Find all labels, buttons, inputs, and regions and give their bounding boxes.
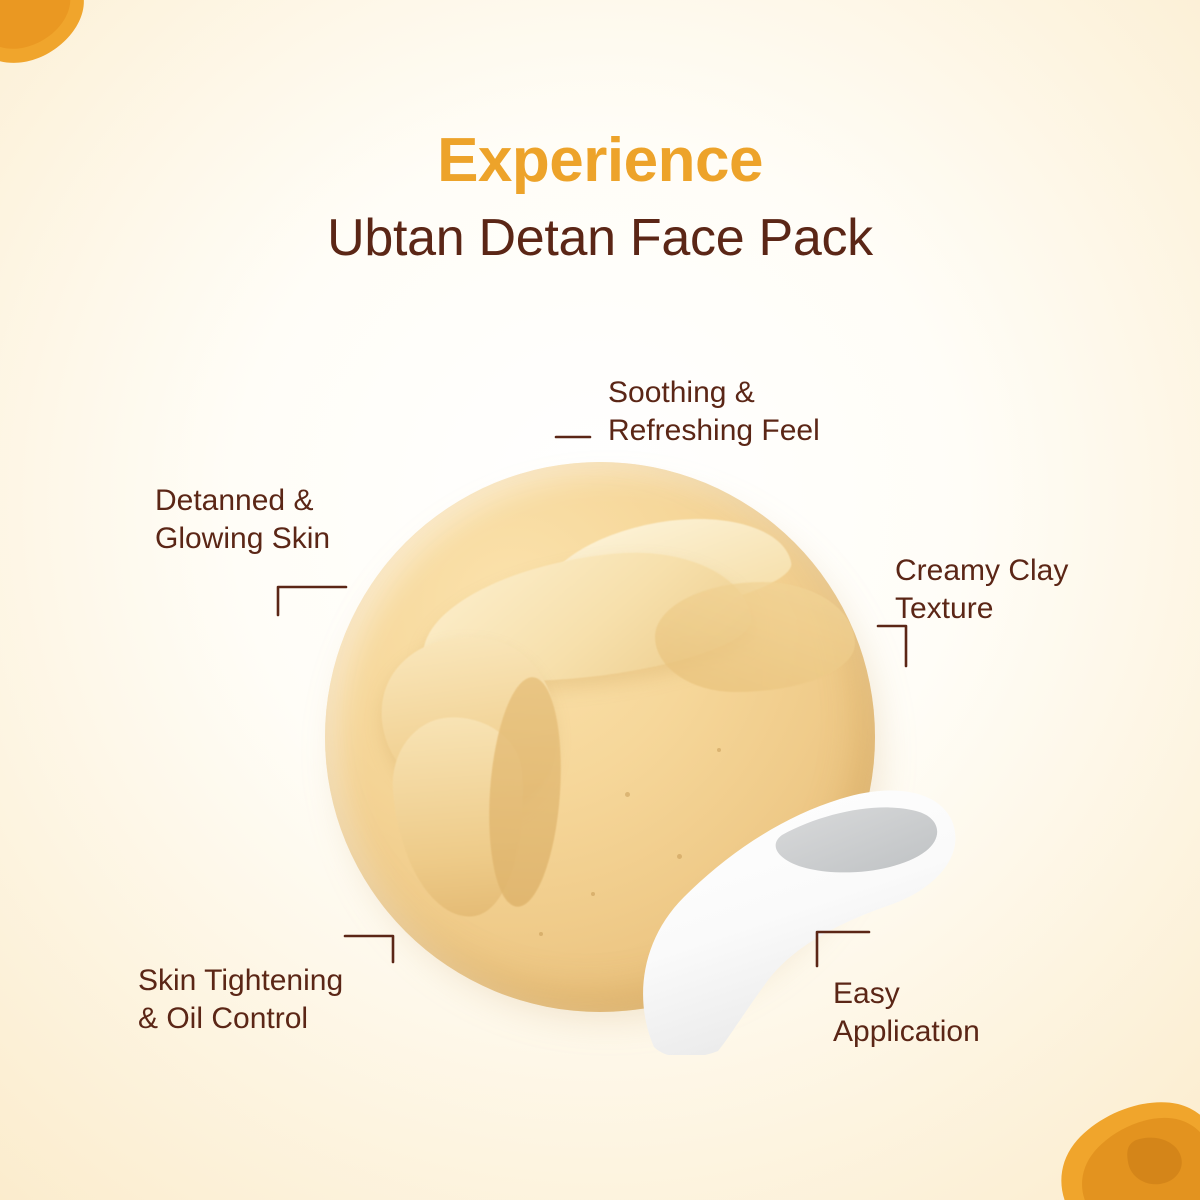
headings: Experience Ubtan Detan Face Pack (0, 128, 1200, 269)
promo-banner: Experience Ubtan Detan Face Pack (0, 0, 1200, 1200)
turmeric-piece-icon (1050, 1078, 1200, 1200)
turmeric-piece-icon (0, 0, 90, 68)
callout-creamy: Creamy Clay Texture (895, 552, 1068, 629)
callout-detanned: Detanned & Glowing Skin (155, 482, 330, 559)
cream-ridge (655, 582, 855, 692)
cream-circle (325, 462, 875, 1012)
callout-soothing: Soothing & Refreshing Feel (608, 374, 820, 451)
cream-speck (677, 854, 682, 859)
cream-speck (591, 892, 595, 896)
callout-tightening: Skin Tightening & Oil Control (138, 962, 343, 1039)
cream-speck (717, 748, 721, 752)
cream-speck (539, 932, 543, 936)
product-swatch (325, 462, 885, 1022)
cream-speck (625, 792, 630, 797)
callout-easy-application: Easy Application (833, 975, 980, 1052)
page-title-sub: Ubtan Detan Face Pack (0, 209, 1200, 269)
page-title-main: Experience (0, 128, 1200, 193)
